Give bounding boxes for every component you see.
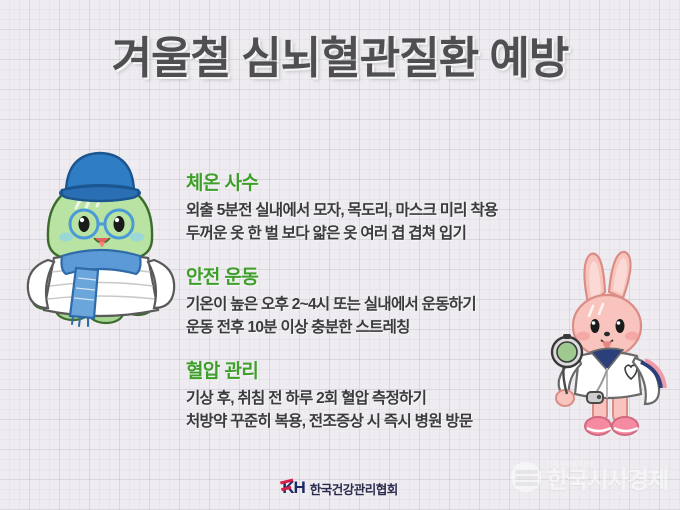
section-heading: 체온 사수: [186, 168, 586, 195]
content-section: 체온 사수외출 5분전 실내에서 모자, 목도리, 마스크 미리 착용두꺼운 옷…: [186, 168, 586, 246]
section-body-line: 처방약 꾸준히 복용, 전조증상 시 즉시 병원 방문: [186, 411, 586, 434]
page-title: 겨울철 심뇌혈관질환 예방: [0, 22, 680, 86]
section-body-line: 운동 전후 10분 이상 충분한 스트레칭: [186, 317, 586, 340]
kh-logo-mark: KH: [282, 478, 305, 498]
octopus-mascot: [18, 138, 183, 328]
section-body-line: 외출 5분전 실내에서 모자, 목도리, 마스크 미리 착용: [186, 200, 586, 223]
section-heading: 혈압 관리: [186, 356, 586, 383]
section-heading: 안전 운동: [186, 262, 586, 289]
content-section: 안전 운동기온이 높은 오후 2~4시 또는 실내에서 운동하기운동 전후 10…: [186, 262, 586, 340]
section-body-line: 두꺼운 옷 한 벌 보다 얇은 옷 여러 겹 겹쳐 입기: [186, 223, 586, 246]
kh-association-logo: KH 한국건강관리협회: [282, 478, 398, 498]
content-sections: 체온 사수외출 5분전 실내에서 모자, 목도리, 마스크 미리 착용두꺼운 옷…: [186, 168, 586, 434]
kh-logo-name: 한국건강관리협회: [310, 479, 398, 498]
section-body-line: 기상 후, 취침 전 하루 2회 혈압 측정하기: [186, 388, 586, 411]
section-body-line: 기온이 높은 오후 2~4시 또는 실내에서 운동하기: [186, 294, 586, 317]
press-watermark: 한국시사경제신문 한국시사경제: [511, 462, 668, 492]
content-section: 혈압 관리기상 후, 취침 전 하루 2회 혈압 측정하기처방약 꾸준히 복용,…: [186, 356, 586, 434]
watermark-main-text: 한국시사경제: [547, 469, 668, 492]
wave-circle-icon: [511, 462, 541, 492]
